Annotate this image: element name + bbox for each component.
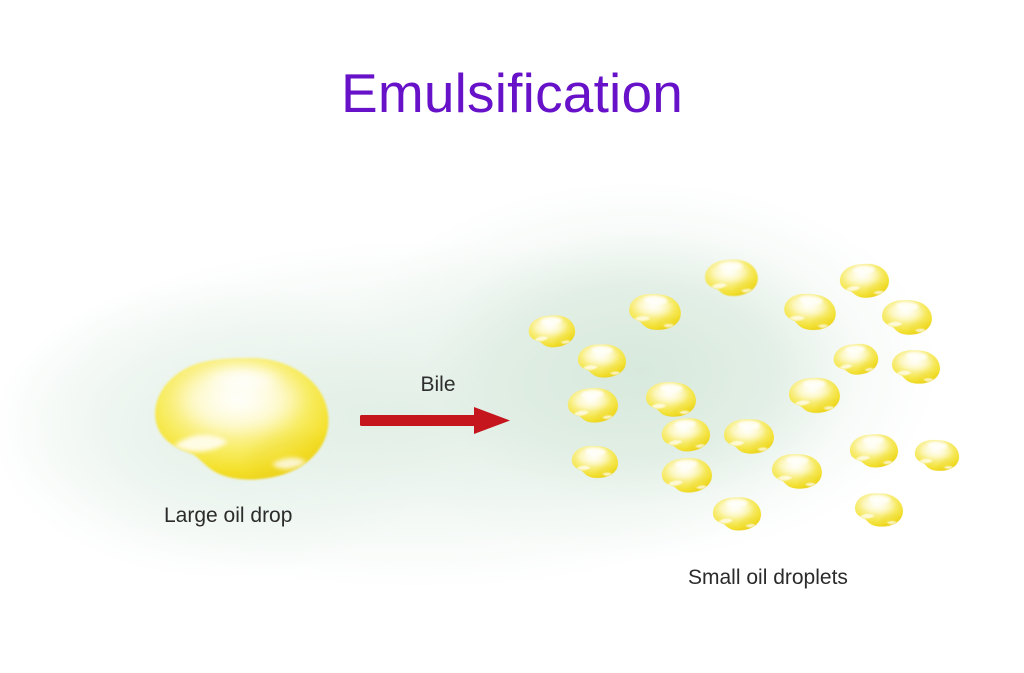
- oil-droplet[interactable]: [711, 491, 764, 538]
- large-oil-drop: [148, 352, 338, 486]
- page-title: Emulsification: [0, 62, 1024, 124]
- oil-droplet[interactable]: [847, 427, 901, 475]
- oil-droplet[interactable]: [576, 338, 629, 385]
- oil-droplet[interactable]: [787, 372, 843, 420]
- oil-droplet[interactable]: [702, 253, 761, 303]
- oil-droplet[interactable]: [879, 293, 935, 342]
- oil-droplet[interactable]: [525, 307, 578, 355]
- bile-arrow-group: Bile: [358, 372, 518, 442]
- oil-droplet[interactable]: [769, 447, 825, 496]
- oil-droplet[interactable]: [659, 451, 715, 501]
- oil-droplet[interactable]: [888, 342, 943, 392]
- bile-arrow-icon: [358, 404, 518, 438]
- oil-droplet[interactable]: [565, 381, 621, 431]
- caption-large-oil-drop: Large oil drop: [164, 503, 292, 529]
- illustration-canvas: Emulsification: [0, 0, 1024, 673]
- oil-droplet[interactable]: [780, 286, 840, 339]
- oil-droplet[interactable]: [852, 486, 906, 535]
- oil-droplet[interactable]: [722, 413, 777, 461]
- oil-droplet[interactable]: [569, 439, 621, 486]
- caption-small-oil-droplets: Small oil droplets: [688, 565, 848, 591]
- oil-droplet[interactable]: [626, 287, 684, 338]
- oil-droplet[interactable]: [912, 432, 963, 478]
- bile-label: Bile: [358, 372, 518, 398]
